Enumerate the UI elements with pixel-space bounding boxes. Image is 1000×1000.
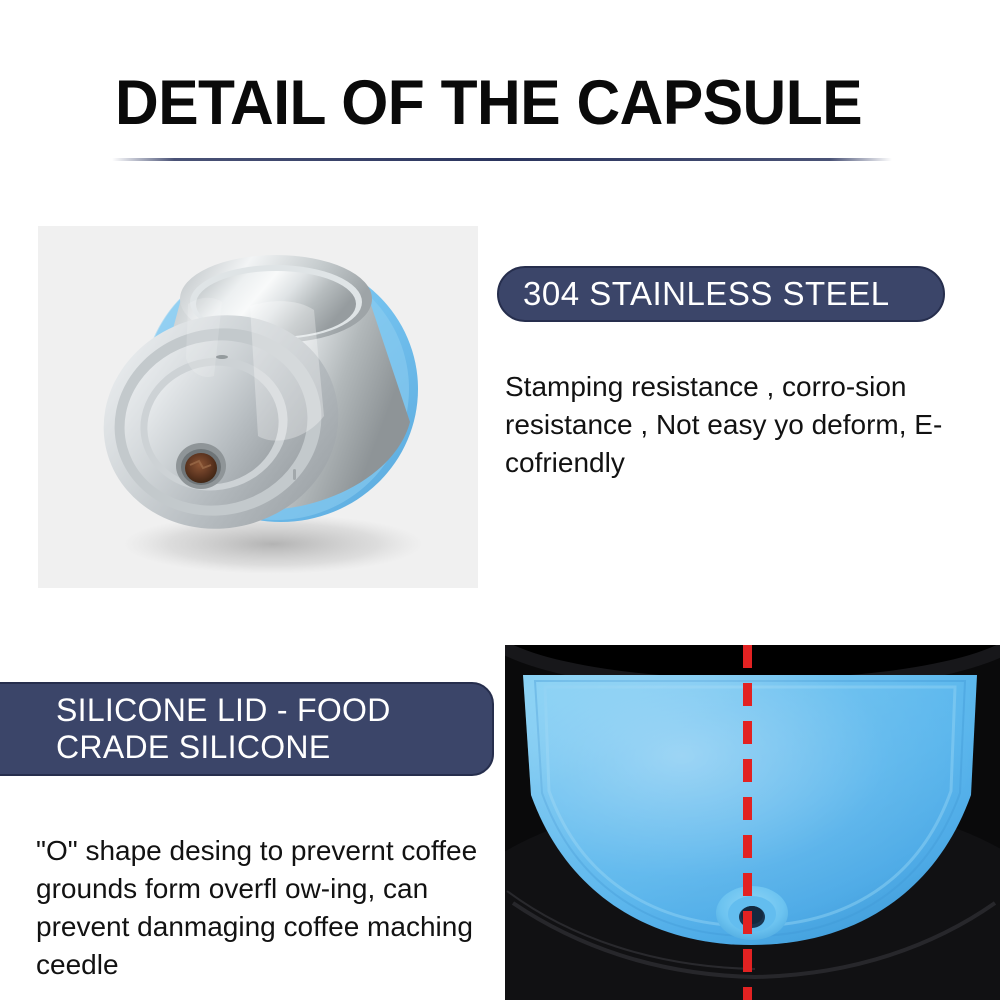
badge-label: SILICONE LID - FOOD CRADE SILICONE (56, 692, 391, 766)
silicone-lid-closeup-photo (505, 645, 1000, 1000)
red-dashed-centerline (743, 645, 752, 1000)
header-divider (112, 158, 892, 161)
stainless-steel-description: Stamping resistance , corro-sion resista… (505, 368, 957, 482)
page-title: DETAIL OF THE CAPSULE (115, 68, 862, 138)
product-detail-page: DETAIL OF THE CAPSULE (0, 0, 1000, 1000)
silicone-lid-illustration (505, 645, 1000, 1000)
stainless-steel-capsule-photo (38, 226, 478, 588)
badge-304-stainless-steel: 304 STAINLESS STEEL (497, 266, 945, 322)
capsule-illustration (38, 226, 478, 588)
badge-silicone-lid-food-grade: SILICONE LID - FOOD CRADE SILICONE (0, 682, 494, 776)
silicone-lid-description: "O" shape desing to prevernt coffee grou… (36, 832, 506, 984)
badge-label: 304 STAINLESS STEEL (523, 276, 890, 312)
